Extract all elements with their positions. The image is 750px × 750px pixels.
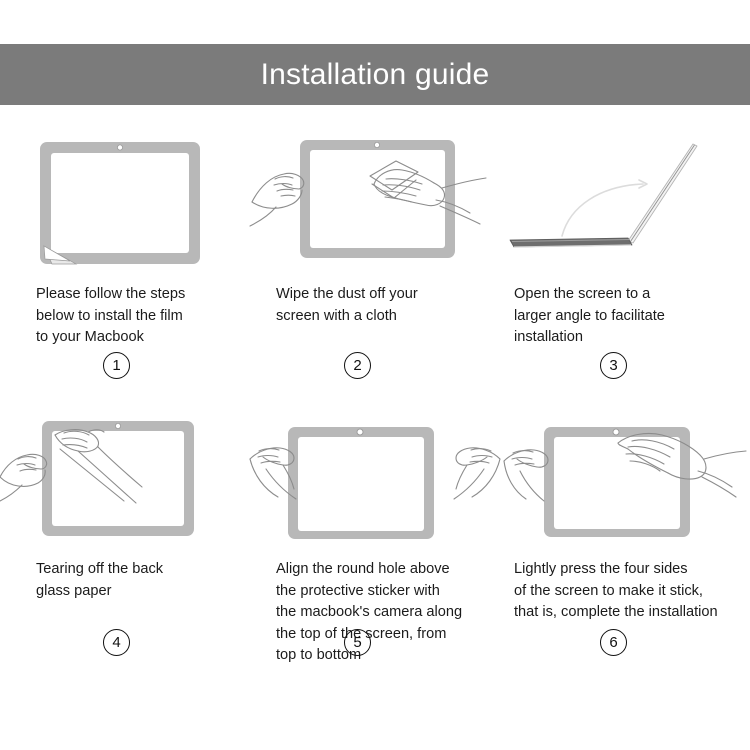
step-6-caption: Lightly press the four sides of the scre… xyxy=(500,553,750,624)
tablet-with-hands-tearing-backing-icon xyxy=(0,403,250,553)
step-card-2: Wipe the dust off your screen with a clo… xyxy=(250,128,500,403)
page-title: Installation guide xyxy=(261,60,490,90)
step-number-badge-6: 6 xyxy=(600,629,627,656)
step-6-illustration xyxy=(500,403,750,553)
step-number-badge-2: 2 xyxy=(344,352,371,379)
step-6-badge-row: 6 xyxy=(500,629,750,656)
tablet-with-hand-pressing-screen-icon xyxy=(500,403,750,553)
step-card-6: Lightly press the four sides of the scre… xyxy=(500,403,750,703)
step-card-5: Align the round hole above the protectiv… xyxy=(250,403,500,703)
step-2-caption: Wipe the dust off your screen with a clo… xyxy=(250,278,500,327)
step-5-illustration xyxy=(250,403,500,553)
tablet-held-by-two-hands-aligning-icon xyxy=(250,403,500,553)
header-band: Installation guide xyxy=(0,44,750,105)
step-3-caption: Open the screen to a larger angle to fac… xyxy=(500,278,750,349)
step-number-badge-4: 4 xyxy=(103,629,130,656)
step-3-illustration xyxy=(500,128,750,278)
step-4-illustration xyxy=(0,403,250,553)
step-1-caption: Please follow the steps below to install… xyxy=(0,278,250,349)
step-card-3: Open the screen to a larger angle to fac… xyxy=(500,128,750,403)
tablet-with-hand-wiping-cloth-icon xyxy=(250,128,500,278)
step-number-badge-3: 3 xyxy=(600,352,627,379)
step-2-illustration xyxy=(250,128,500,278)
step-card-4: Tearing off the back glass paper 4 xyxy=(0,403,250,703)
step-4-caption: Tearing off the back glass paper xyxy=(0,553,250,602)
tablet-with-peeling-film-corner-icon xyxy=(0,128,250,278)
step-1-illustration xyxy=(0,128,250,278)
laptop-open-angle-side-view-icon xyxy=(500,128,750,278)
step-number-badge-5: 5 xyxy=(344,629,371,656)
installation-steps-grid: Please follow the steps below to install… xyxy=(0,128,750,728)
step-number-badge-1: 1 xyxy=(103,352,130,379)
step-card-1: Please follow the steps below to install… xyxy=(0,128,250,403)
step-3-badge-row: 3 xyxy=(500,352,750,379)
